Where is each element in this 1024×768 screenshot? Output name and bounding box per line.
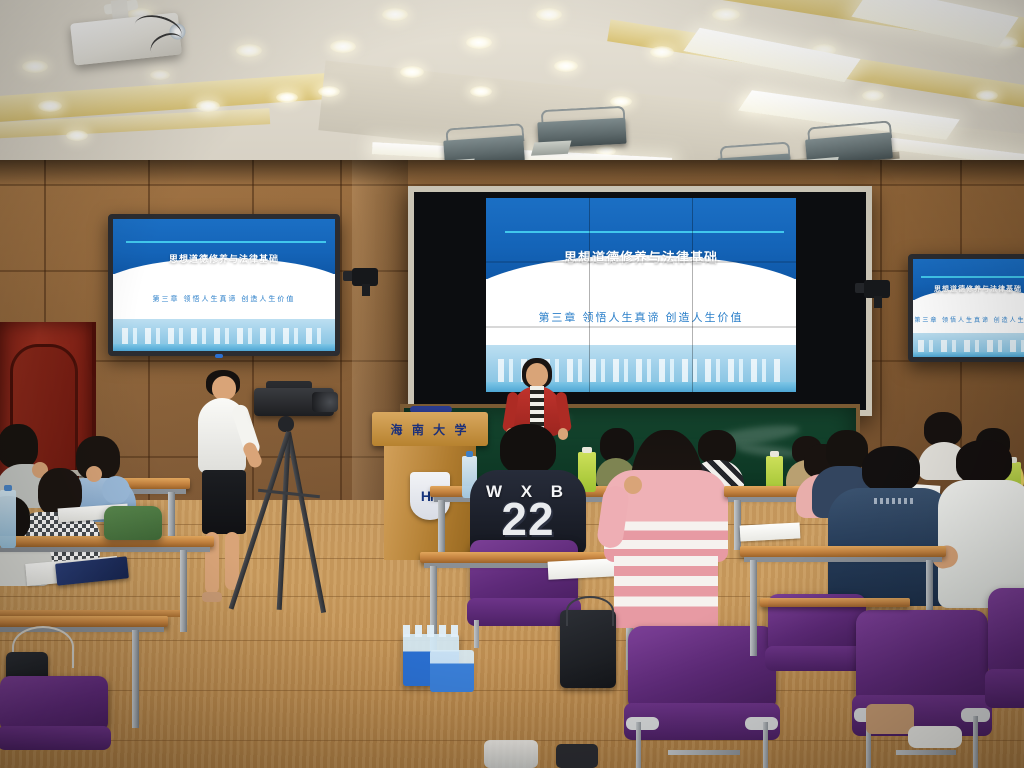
water-bottle [0, 490, 16, 548]
right-monitor-slide: 思想道德修养与法律基础 第三章 领悟人生真谛 创造人生价值 [913, 259, 1024, 357]
downlight [38, 100, 62, 112]
tripod-head [278, 416, 294, 432]
downlight [862, 90, 884, 101]
downlight [276, 92, 298, 103]
main-video-wall[interactable]: 思想道德修养与法律基础 第三章 领悟人生真谛 创造人生价值 [408, 186, 872, 416]
slide-title: 思想道德修养与法律基础 [486, 247, 796, 266]
downlight [236, 44, 262, 57]
downlight [976, 90, 998, 101]
downlight [318, 86, 340, 97]
camera-lens [312, 392, 338, 412]
leg [866, 704, 914, 734]
plastic-bag [484, 740, 538, 768]
operator-shorts [202, 470, 246, 534]
downlight [470, 86, 492, 97]
downlight [330, 40, 356, 53]
right-wall-monitor[interactable]: 思想道德修养与法律基础 第三章 领悟人生真谛 创造人生价值 [908, 254, 1024, 362]
stage-light [537, 106, 628, 163]
video-camera-tripod [248, 388, 344, 620]
downlight [150, 70, 170, 80]
shirt-logo [874, 498, 916, 504]
downlight [66, 130, 88, 141]
chair-left-front [0, 676, 108, 768]
chair-left-back [104, 506, 162, 564]
striped-skirt [614, 556, 718, 628]
tripod-leg [286, 432, 326, 614]
slide-title: 思想道德修养与法律基础 [913, 284, 1024, 294]
downlight [22, 60, 48, 73]
downlight [712, 8, 740, 21]
downlight [536, 8, 562, 21]
downlight [400, 66, 424, 78]
wall-camera-left [352, 268, 392, 300]
slide-subtitle: 第三章 领悟人生真谛 创造人生价值 [913, 315, 1024, 324]
downlight [382, 8, 408, 21]
downlight [466, 36, 492, 49]
floor-bag [556, 744, 598, 768]
lecture-hall-photo: 思想道德修养与法律基础 第三章 领悟人生真谛 创造人生价值 思想道德修养与法律基… [0, 0, 1024, 768]
left-monitor-slide: 思想道德修养与法律基础 第三章 领悟人生真谛 创造人生价值 [113, 219, 335, 351]
bag-strap [566, 596, 614, 626]
student-white-shirt [938, 440, 1024, 608]
downlight [554, 60, 578, 72]
paper-sheet [740, 522, 801, 541]
student-jersey: W X B 22 [470, 424, 586, 552]
downlight [650, 46, 674, 58]
water-bottle-pack-2 [430, 650, 474, 692]
slide-title: 思想道德修养与法律基础 [113, 252, 335, 265]
shoe [908, 726, 962, 748]
student-striped [604, 430, 728, 626]
monitor-power-led [215, 354, 223, 358]
slide-subtitle: 第三章 领悟人生真谛 创造人生价值 [113, 294, 335, 304]
left-wall-monitor[interactable]: 思想道德修养与法律基础 第三章 领悟人生真谛 创造人生价值 [108, 214, 340, 356]
chair-far-right [988, 588, 1024, 738]
ceiling [0, 0, 1024, 185]
downlight [196, 100, 220, 112]
wall-camera-right [864, 280, 904, 312]
slide-subtitle: 第三章 领悟人生真谛 创造人生价值 [486, 309, 796, 325]
jersey-number-text: 22 [470, 496, 586, 542]
ceiling-wall-shadow [0, 160, 1024, 186]
desk-right-front [760, 598, 910, 642]
